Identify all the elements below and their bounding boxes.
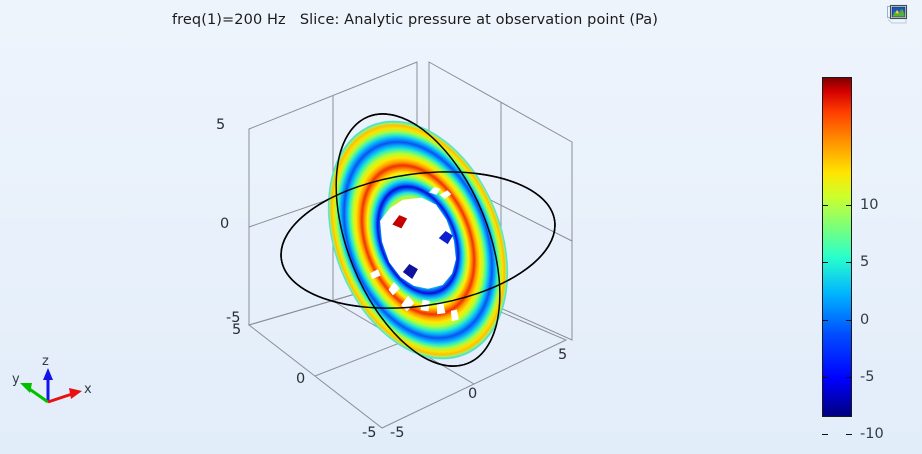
- colorbar-tick-neg5-left: [822, 377, 828, 378]
- axis-label-x-neg5: -5: [390, 425, 404, 441]
- triad-z-axis-icon: [43, 368, 53, 402]
- colorbar-tick-0-left: [822, 320, 828, 321]
- triad-label-y: y: [12, 372, 20, 387]
- colorbar[interactable]: 10 5 0 -5 -10: [822, 77, 912, 419]
- colorbar-label-neg5: -5: [860, 369, 874, 385]
- triad-x-axis-icon: [48, 388, 82, 402]
- colorbar-gradient: [822, 77, 852, 417]
- triad-label-z: z: [42, 354, 49, 369]
- axis-label-z-5: 5: [216, 117, 225, 133]
- colorbar-label-5: 5: [860, 254, 869, 270]
- colorbar-label-10: 10: [860, 197, 878, 213]
- axis-label-y-0: 0: [296, 371, 305, 387]
- colorbar-tick-neg10-right: [846, 434, 852, 435]
- orientation-triad[interactable]: z y x: [6, 356, 102, 436]
- axis-label-z-0: 0: [220, 216, 229, 232]
- triad-label-x: x: [84, 382, 92, 397]
- axis-label-y-neg5: -5: [362, 425, 376, 441]
- colorbar-tick-10-left: [822, 205, 828, 206]
- plot-canvas[interactable]: freq(1)=200 Hz Slice: Analytic pressure …: [0, 0, 922, 454]
- colorbar-tick-neg10-left: [822, 434, 828, 435]
- axis-label-x-0: 0: [468, 386, 477, 402]
- colorbar-tick-neg5-right: [846, 377, 852, 378]
- axis-label-x-5: 5: [558, 347, 567, 363]
- colorbar-label-neg10: -10: [860, 426, 884, 442]
- colorbar-tick-5-right: [846, 262, 852, 263]
- axis-label-y-5: 5: [232, 322, 241, 338]
- colorbar-tick-0-right: [846, 320, 852, 321]
- three-d-scene[interactable]: [0, 0, 922, 454]
- triad-y-axis-icon: [20, 383, 48, 402]
- colorbar-tick-10-right: [846, 205, 852, 206]
- colorbar-tick-5-left: [822, 262, 828, 263]
- colorbar-label-0: 0: [860, 312, 869, 328]
